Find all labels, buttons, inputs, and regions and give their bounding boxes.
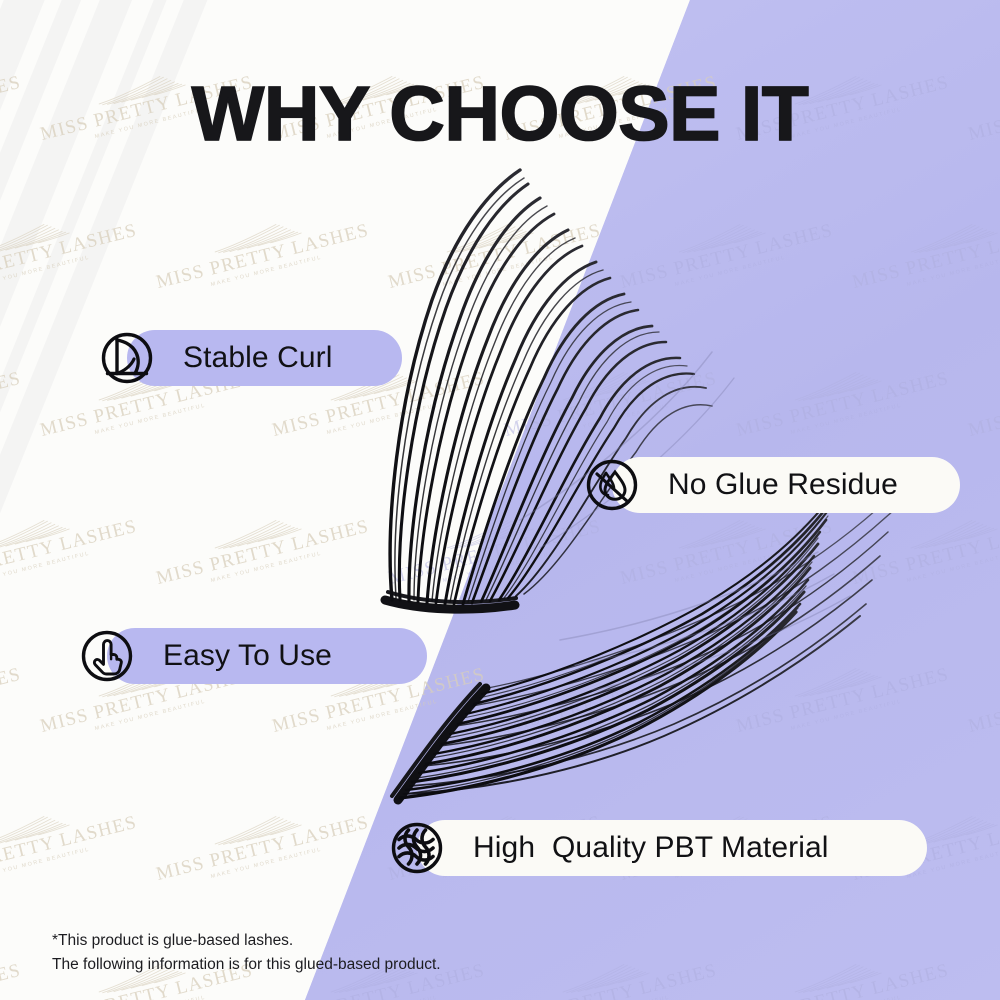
promo-poster: MISS PRETTY LASHESMAKE YOU MORE BEAUTIFU…	[0, 0, 1000, 1000]
footnote: *This product is glue-based lashes. The …	[52, 929, 441, 976]
mesh-weave-icon	[390, 821, 444, 875]
feature-badge-no-glue-residue[interactable]: No Glue Residue	[585, 457, 639, 513]
feature-label: No Glue Residue	[668, 468, 898, 502]
curl-circle-icon	[100, 331, 154, 385]
footnote-line-1: *This product is glue-based lashes.	[52, 929, 441, 953]
feature-pill: Stable Curl	[127, 330, 402, 386]
feature-badge-high-quality-pbt-material[interactable]: High Quality PBT Material	[390, 820, 444, 876]
pointing-hand-icon	[80, 629, 134, 683]
footnote-line-2: The following information is for this gl…	[52, 953, 441, 977]
feature-pill: High Quality PBT Material	[417, 820, 927, 876]
feature-pill: Easy To Use	[107, 628, 427, 684]
feature-pill: No Glue Residue	[612, 457, 960, 513]
feature-badge-stable-curl[interactable]: Stable Curl	[100, 330, 154, 386]
no-droplet-icon	[585, 458, 639, 512]
feature-label: High Quality PBT Material	[473, 831, 829, 865]
feature-label: Easy To Use	[163, 639, 332, 673]
feature-label: Stable Curl	[183, 341, 333, 375]
feature-badge-easy-to-use[interactable]: Easy To Use	[80, 628, 134, 684]
page-title: WHY CHOOSE IT	[0, 76, 1000, 153]
